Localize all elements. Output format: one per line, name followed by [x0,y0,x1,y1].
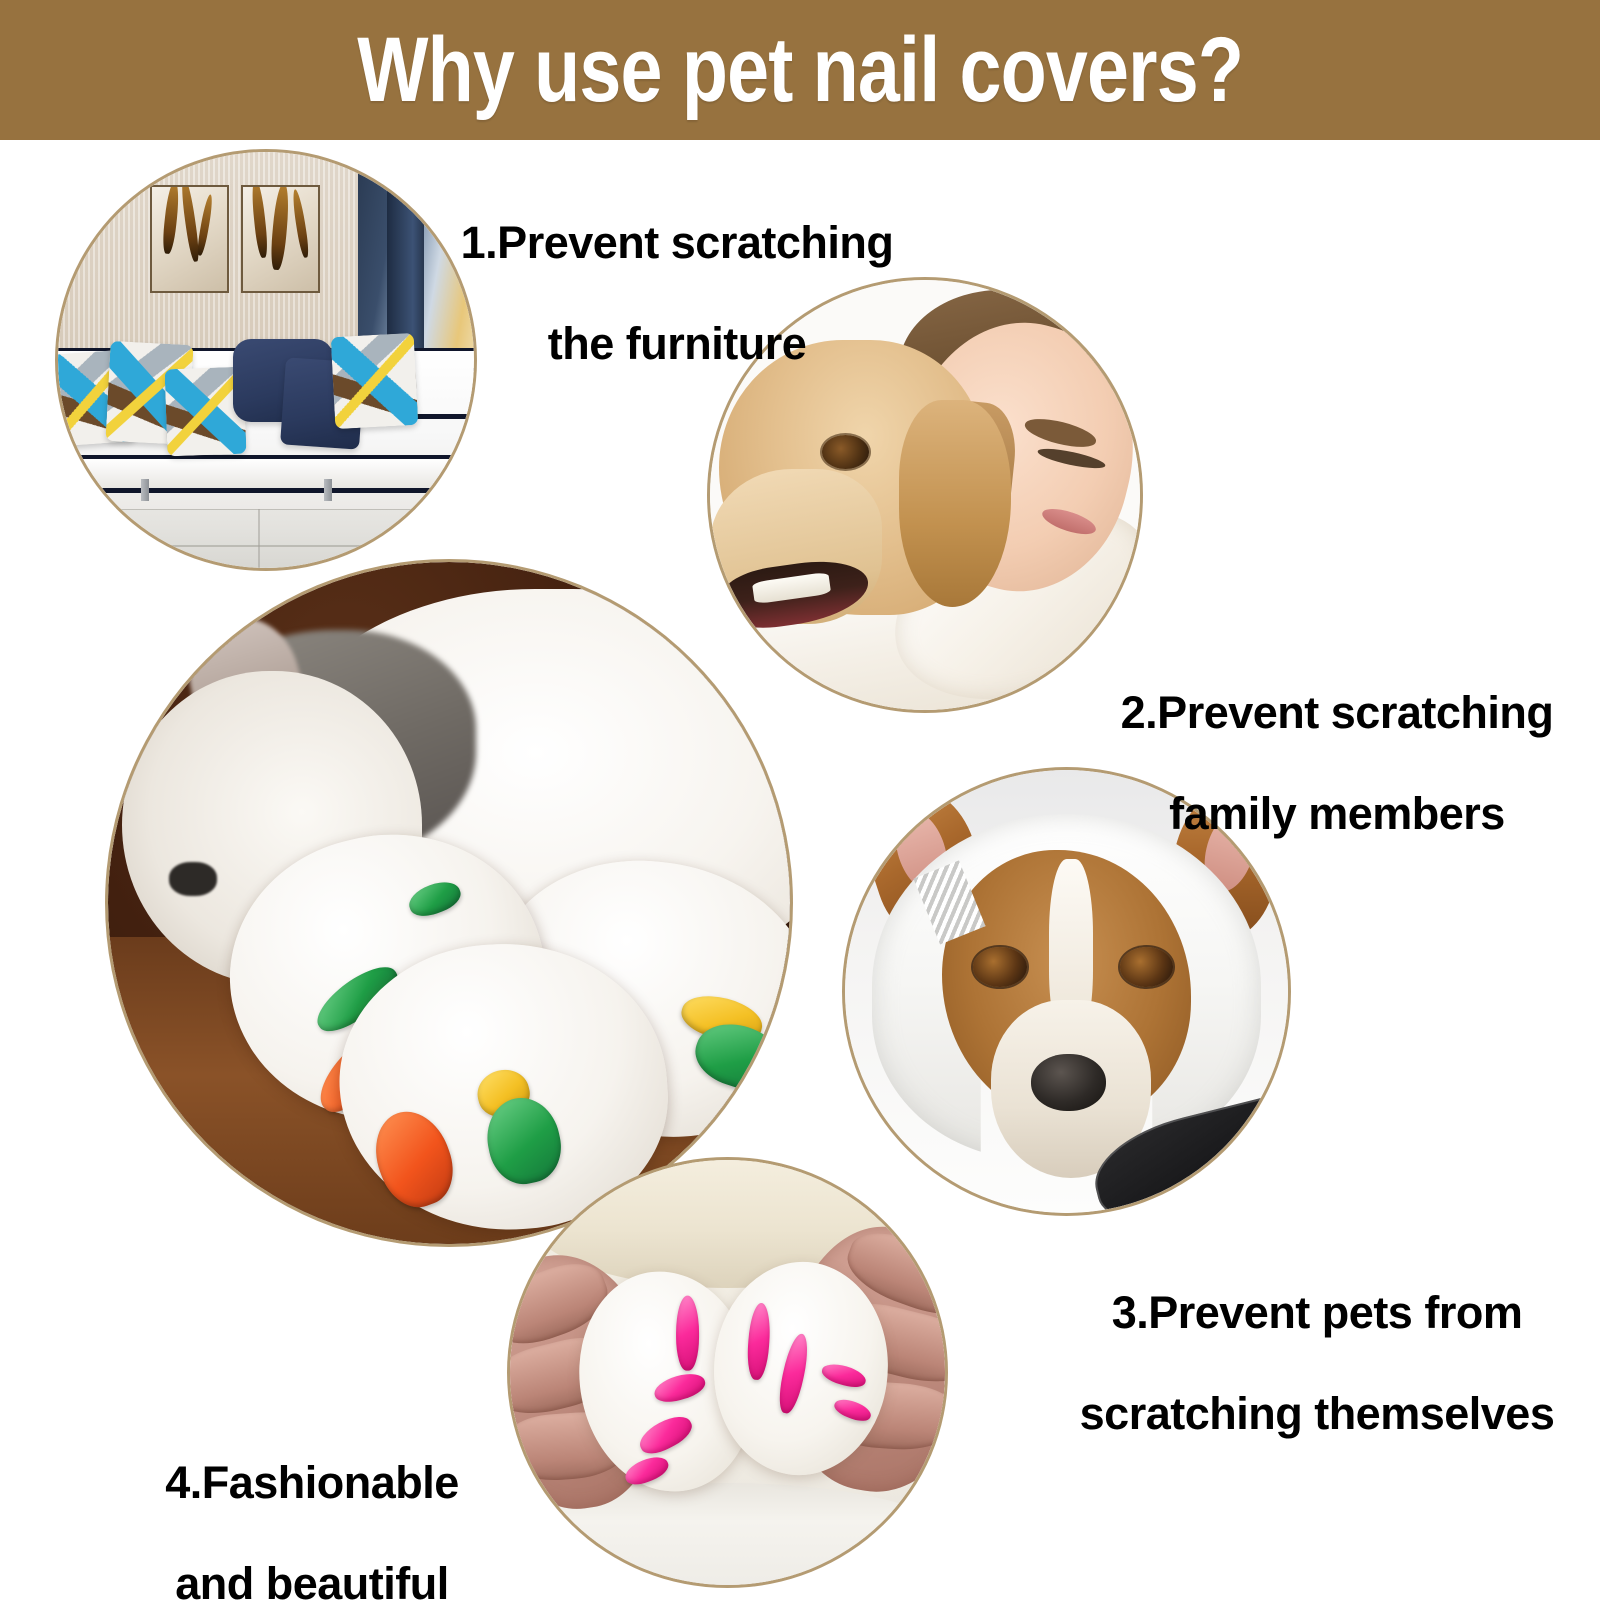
benefit-caption-3-line1: 3.Prevent pets from [1112,1287,1523,1338]
nail-cap-pink [676,1295,699,1370]
sofa-base [58,455,474,493]
nail-cap-pink [651,1369,708,1407]
photo-cat-with-colored-nail-caps [108,562,790,1244]
benefit-caption-4-line1: 4.Fashionable [165,1457,459,1508]
page-title: Why use pet nail covers? [357,24,1243,116]
dog-eye [822,435,869,469]
benefit-caption-2-line1: 2.Prevent scratching [1121,687,1554,738]
nail-cap-pink [820,1360,869,1391]
photo-living-room-sofa [58,152,474,568]
header-banner: Why use pet nail covers? [0,0,1600,140]
benefit-caption-2-line2: family members [1169,788,1505,839]
benefit-caption-4: 4.Fashionable and beautiful [130,1408,470,1610]
dog-nose [1031,1054,1106,1112]
benefit-caption-1: 1.Prevent scratching the furniture [430,168,900,370]
photo-pink-nail-caps [510,1160,945,1585]
nail-cap-pink [775,1332,812,1415]
nail-cap-pink [634,1410,696,1460]
sofa-leg [141,479,149,501]
cushion-geometric [330,333,418,429]
benefit-caption-3: 3.Prevent pets from scratching themselve… [1040,1238,1570,1440]
floor-grout-line [58,545,474,547]
benefit-caption-3-line2: scratching themselves [1080,1388,1555,1439]
benefit-caption-1-line1: 1.Prevent scratching [461,217,894,268]
wall-art-left [150,185,229,293]
sofa-leg [324,479,332,501]
benefit-caption-4-line2: and beautiful [175,1558,449,1609]
nail-cap-green [404,876,464,921]
photo-inner [510,1160,945,1585]
dog-eye-right [1120,947,1173,987]
dog-eye-left [973,947,1026,987]
photo-inner [108,562,790,1244]
nail-cap-pink [621,1451,671,1488]
nail-cap-pink [833,1395,875,1424]
cat-nose [169,862,217,896]
benefit-caption-1-line2: the furniture [548,318,807,369]
photo-inner [58,152,474,568]
nail-cap-pink [747,1302,773,1380]
benefit-caption-2: 2.Prevent scratching family members [1090,638,1560,840]
wall-art-right [241,185,320,293]
